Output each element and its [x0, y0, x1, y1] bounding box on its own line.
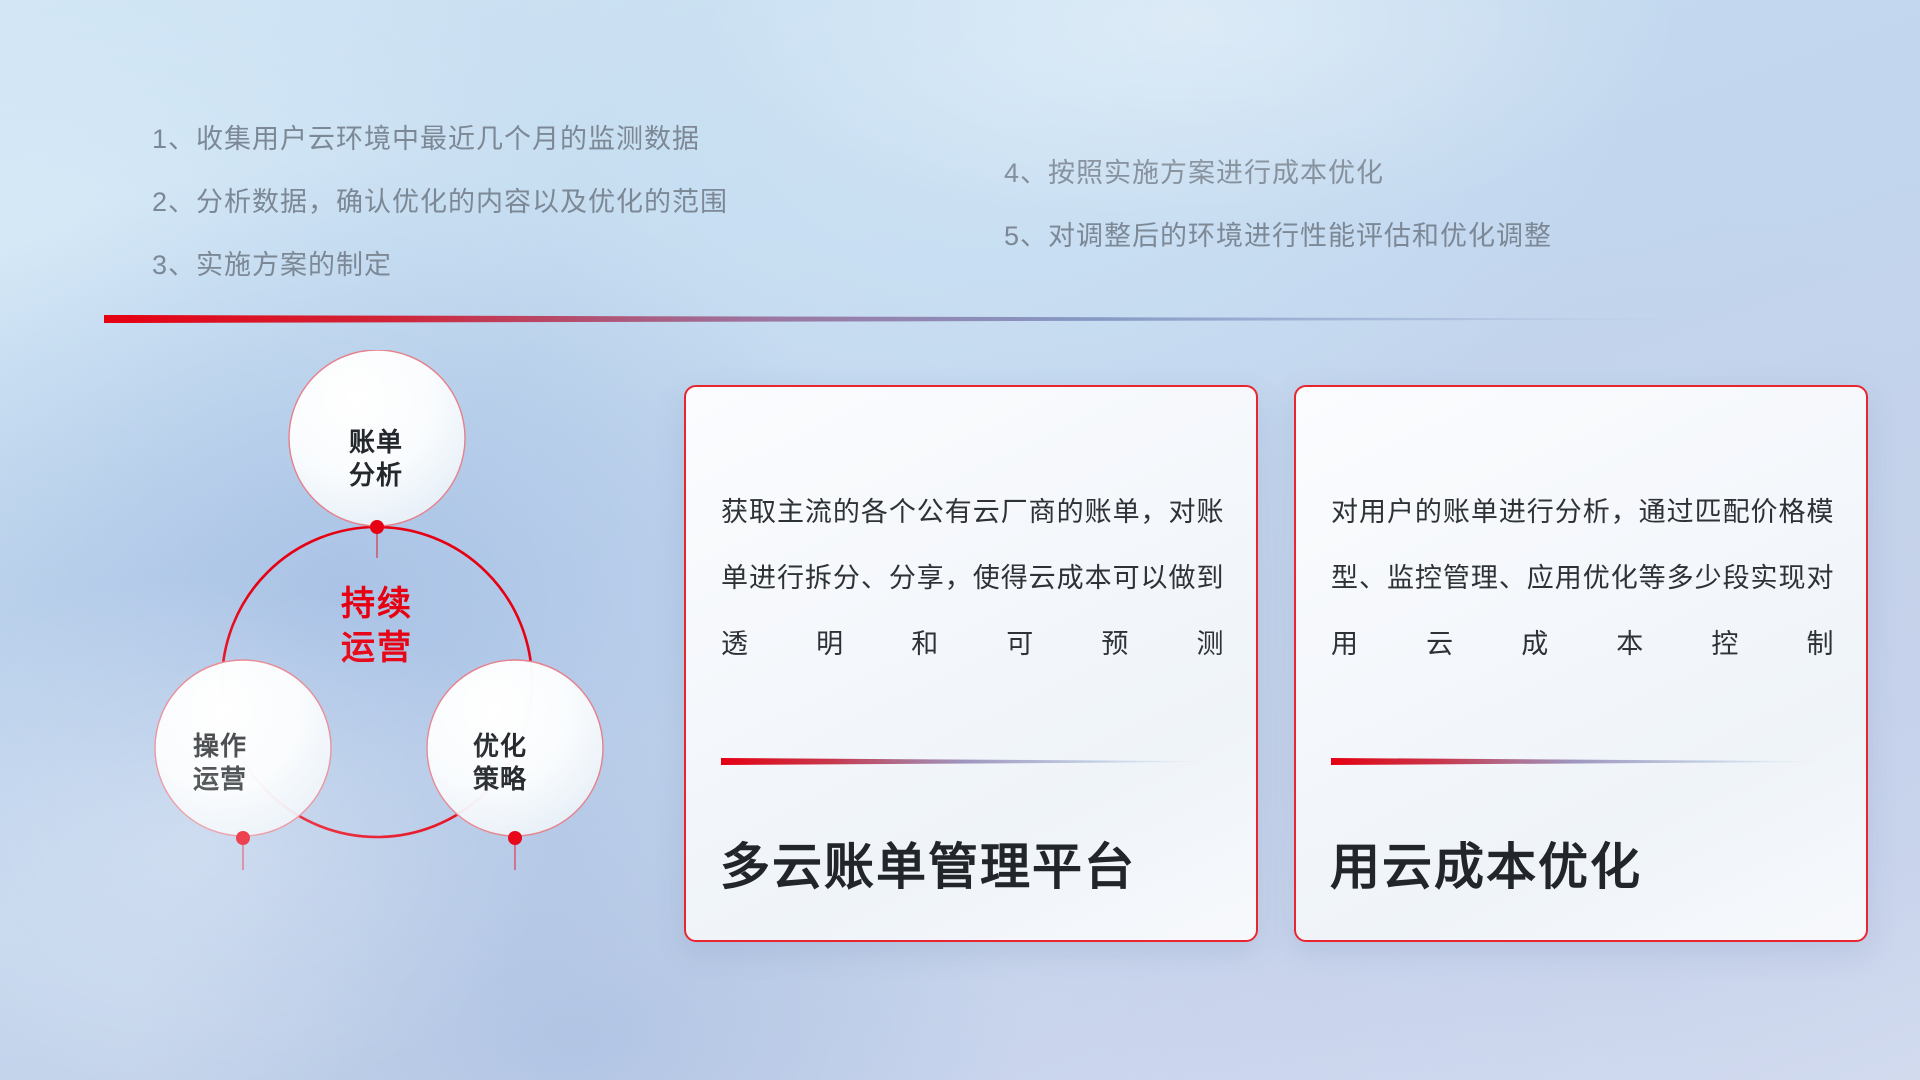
card-divider-rule — [721, 757, 1211, 766]
bullet-item-2: 2、分析数据，确认优化的内容以及优化的范围 — [152, 189, 728, 216]
bullet-list-left: 1、收集用户云环境中最近几个月的监测数据 2、分析数据，确认优化的内容以及优化的… — [152, 126, 728, 279]
bullet-item-1: 1、收集用户云环境中最近几个月的监测数据 — [152, 126, 728, 153]
bullet-list-right: 4、按照实施方案进行成本优化 5、对调整后的环境进行性能评估和优化调整 — [1004, 160, 1552, 250]
venn-node-dot-left — [236, 831, 250, 845]
section-divider-rule — [104, 313, 1704, 325]
venn-node-dot-top — [370, 520, 384, 534]
feature-card-cloud-cost-optimization[interactable]: 对用户的账单进行分析，通过匹配价格模型、监控管理、应用优化等多少段实现对用云成本… — [1294, 385, 1868, 942]
venn-node-dot-right — [508, 831, 522, 845]
venn-label-bill-analysis: 账单 分析 — [291, 426, 461, 493]
card-divider-rule — [1331, 757, 1821, 766]
card-body-text: 获取主流的各个公有云厂商的账单，对账单进行拆分、分享，使得云成本可以做到透明和可… — [721, 479, 1224, 677]
card-title: 用云成本优化 — [1330, 827, 1642, 899]
venn-label-optimization-policy: 优化 策略 — [415, 730, 585, 797]
venn-label-operation-management: 操作 运营 — [135, 730, 305, 797]
card-body-text: 对用户的账单进行分析，通过匹配价格模型、监控管理、应用优化等多少段实现对用云成本… — [1331, 479, 1834, 677]
venn-diagram: 持续 运营 账单 分析 操作 运营 优化 策略 — [95, 350, 655, 960]
feature-card-multicloud-billing[interactable]: 获取主流的各个公有云厂商的账单，对账单进行拆分、分享，使得云成本可以做到透明和可… — [684, 385, 1258, 942]
bullet-item-4: 4、按照实施方案进行成本优化 — [1004, 160, 1552, 187]
venn-center-label: 持续 运营 — [277, 582, 477, 670]
bullet-item-5: 5、对调整后的环境进行性能评估和优化调整 — [1004, 223, 1552, 250]
card-title: 多云账单管理平台 — [720, 827, 1136, 899]
bullet-item-3: 3、实施方案的制定 — [152, 252, 728, 279]
slide-canvas: 1、收集用户云环境中最近几个月的监测数据 2、分析数据，确认优化的内容以及优化的… — [0, 0, 1920, 1080]
